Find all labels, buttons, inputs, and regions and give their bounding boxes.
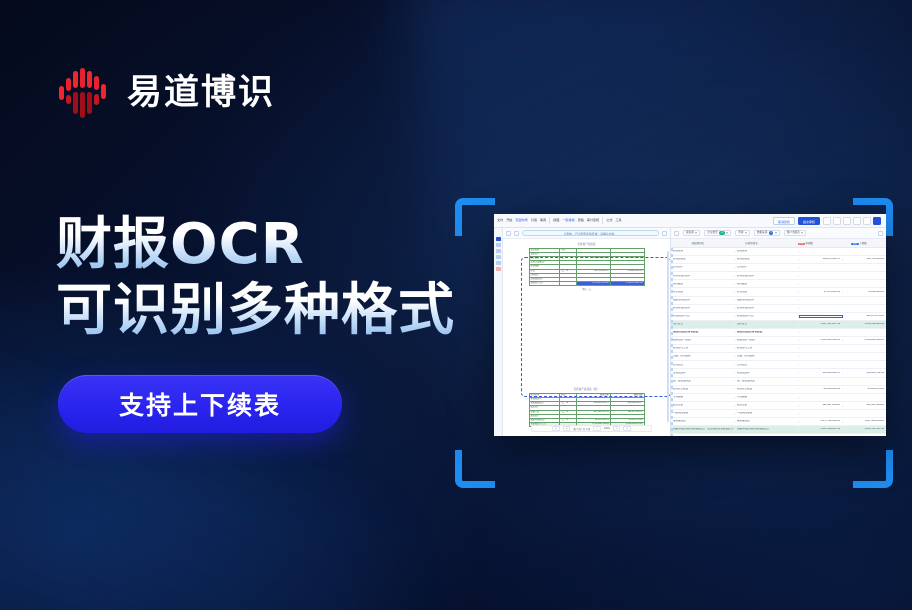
- table-cell[interactable]: 其他综合收益: [735, 388, 799, 391]
- table-row[interactable]: 持有待售的资产持有待售的资产: [671, 272, 886, 280]
- thumbnail-page-1[interactable]: [496, 237, 501, 241]
- table-cell[interactable]: 归属于母公司所有者权益合计: [735, 428, 799, 431]
- table-row[interactable]: 存货项目存货项目27,672,805.4831,282,240.00: [671, 288, 886, 296]
- toolbar-menu-item[interactable]: 公式: [606, 219, 612, 222]
- cta-button[interactable]: 支持上下续表: [58, 375, 342, 433]
- table-row[interactable]: 盈余公积盈余公积228,327,838.88228,327,838.88: [671, 402, 886, 410]
- fit-width-icon[interactable]: □: [623, 426, 630, 431]
- toolbar-menu-item[interactable]: 工具: [615, 219, 621, 222]
- undo-icon[interactable]: [823, 217, 831, 225]
- submit-review-button[interactable]: 提交审核: [798, 217, 820, 225]
- table-cell[interactable]: 递延所得税资产: [671, 299, 735, 302]
- filter-bar: 报表期企业类型12币种数据来源3账户余额表: [671, 228, 886, 239]
- table-cell[interactable]: 资产总计: [735, 323, 799, 326]
- table-cell: 流动资产合计: [529, 282, 560, 286]
- table-row[interactable]: 资产总计资产总计1,487,567,067.091,558,598,963.83: [671, 321, 886, 329]
- document-table: 合并资产负债表项目名称附注流动资产：货币资金七、1964,804,941.738…: [509, 242, 664, 291]
- page-indicator: 第 1 页 / 共 2 页: [573, 427, 590, 431]
- document-preview-pane: 识别中，已识别到表格区域，请确认内容… 合并资产负债表项目名称附注流动资产：货币…: [503, 228, 671, 436]
- expand-icon[interactable]: [853, 217, 861, 225]
- settings-icon[interactable]: [873, 217, 881, 225]
- chevron-down-icon: [801, 232, 803, 234]
- thumbnail-page-flagged[interactable]: [496, 267, 501, 271]
- table-row[interactable]: 预付账款预付账款: [671, 280, 886, 288]
- table-row[interactable]: 其他综合收益其他综合收益-20,214,823.40-23,895,870.36: [671, 386, 886, 394]
- table-cell[interactable]: 预付账款: [735, 283, 799, 286]
- table-cell[interactable]: 非流动资产合计: [671, 315, 735, 318]
- table-cell[interactable]: 持有待售的资产: [671, 275, 735, 278]
- column-tag: 必填: [798, 243, 805, 245]
- filter-dropdown[interactable]: 企业类型12: [704, 230, 731, 237]
- table-cell[interactable]: 持有待售的资产: [735, 275, 799, 278]
- table-cell: 1,788,425,982.60: [610, 282, 644, 286]
- table-cell[interactable]: 未分配利润: [671, 420, 735, 423]
- headline-line-1: 财报OCR: [56, 212, 455, 278]
- frame-corner-bottom-left: [455, 450, 495, 488]
- table-cell: [560, 282, 577, 286]
- table-row[interactable]: 营业总成本营业总成本441,302,822.70464,646,782.91: [671, 369, 886, 377]
- table-row[interactable]: 票据、应付账款票据、应付账款: [671, 353, 886, 361]
- table-cell[interactable]: 应收款项: [671, 250, 735, 253]
- toolbar-menu-item[interactable]: 开始: [506, 219, 512, 222]
- table-row[interactable]: 递延所得税资产递延所得税资产: [671, 297, 886, 305]
- thumbnail-page-2[interactable]: [496, 243, 501, 247]
- filter-badge: 3: [769, 231, 773, 235]
- table-cell[interactable]: 短期借款（期初）: [735, 339, 799, 342]
- headline-line-2: 可识别多种格式: [56, 278, 455, 344]
- toolbar-separator: [602, 217, 603, 224]
- prev-page-icon[interactable]: ‹‹: [552, 426, 560, 431]
- table-cell[interactable]: 1,361,707,267.00: [843, 428, 886, 431]
- grid-icon[interactable]: [506, 231, 511, 236]
- table-cell[interactable]: 未分配利润: [735, 420, 799, 423]
- table-cell[interactable]: 其他应收款: [735, 258, 799, 261]
- table-cell: 1,873,562,015.80: [576, 282, 610, 286]
- table-cell[interactable]: 其他应收款: [671, 258, 735, 261]
- table-cell[interactable]: 31,282,240.00: [843, 291, 886, 294]
- table-row: 流动资产合计1,873,562,015.801,788,425,982.60: [529, 282, 644, 286]
- table-cell[interactable]: 合同资产: [671, 266, 735, 269]
- document-table-grid: 项目名称附注期末余额期初余额非流动资产：长期股权投资七、16283,065,18…: [529, 393, 645, 428]
- document-table-grid: 项目名称附注流动资产：货币资金七、1964,804,941.73861,112,…: [529, 248, 645, 287]
- chevron-down-icon: [726, 232, 728, 234]
- sound-bars-circle-logo-icon: [57, 66, 111, 120]
- table-row[interactable]: 应收款项应收款项: [671, 248, 886, 256]
- table-cell[interactable]: 存货项目: [735, 291, 799, 294]
- thumbnail-page-4[interactable]: [496, 255, 501, 259]
- table-cell[interactable]: 递延所得税资产: [735, 299, 799, 302]
- table-cell[interactable]: 228,074,670.85: [843, 315, 886, 318]
- table-cell[interactable]: 存货项目: [671, 291, 735, 294]
- document-tables: 合并资产负债表项目名称附注流动资产：货币资金七、1964,804,941.738…: [509, 242, 664, 432]
- app-window: 文件开始页面布局引用审阅视图一键排版表格审计复核公式工具 取消复核提交审核 识别…: [494, 214, 886, 436]
- zoom-out-icon[interactable]: −: [593, 426, 600, 431]
- filter-label: 数据来源: [757, 230, 767, 237]
- thumbnail-page-5[interactable]: [496, 261, 501, 265]
- filter-dropdown[interactable]: 账户余额表: [784, 230, 806, 237]
- table-row[interactable]: 未分配利润未分配利润1,276,790,092.181,227,986,024.…: [671, 418, 886, 426]
- table-cell[interactable]: 27,672,805.48: [799, 291, 843, 294]
- subheader-cells: 原始项目名标准项目名必填 本期数校验 上期数: [671, 241, 886, 245]
- toolbar-menu-item[interactable]: 视图: [553, 219, 559, 222]
- table-cell[interactable]: 预付账款: [671, 283, 735, 286]
- column-subheader: 校验 上期数: [832, 241, 886, 245]
- table-cell[interactable]: 票据、应付账款: [735, 355, 799, 358]
- page-title: 财报OCR 可识别多种格式: [56, 212, 455, 344]
- table-cell[interactable]: 合同负债: [735, 364, 799, 367]
- table-cell[interactable]: 其他应付工具: [735, 347, 799, 350]
- table-cell[interactable]: 非流动资产合计: [735, 315, 799, 318]
- filter-label: 报表期: [686, 230, 694, 237]
- table-cell[interactable]: 减：税金及附加: [671, 380, 735, 383]
- table-row[interactable]: 其他应收款其他应收款294,676,094.73385,710,240.08: [671, 256, 886, 264]
- table-cell[interactable]: 其他非流动资产: [671, 307, 735, 310]
- redo-icon[interactable]: [833, 217, 841, 225]
- table-cell[interactable]: 盈余公积: [735, 404, 799, 407]
- document-table-title: 合并资产负债表: [509, 242, 664, 246]
- toolbar-menu-item[interactable]: 一键排版: [562, 219, 574, 222]
- filter-label: 账户余额表: [787, 230, 800, 237]
- frame-corner-bottom-right: [853, 450, 893, 488]
- table-row[interactable]: 一般风险准备一般风险准备: [671, 410, 886, 418]
- column-subheader: 标准项目名: [725, 241, 779, 245]
- table-cell[interactable]: 228,327,838.88: [799, 404, 843, 407]
- table-cell[interactable]: -20,214,823.40: [799, 388, 843, 391]
- table-cell[interactable]: 盈余公积: [671, 404, 735, 407]
- table-cell[interactable]: 专项储备: [735, 396, 799, 399]
- table-cell[interactable]: 其他应付工具: [671, 347, 735, 350]
- filter-dropdown[interactable]: 报表期: [683, 230, 700, 237]
- table-cell[interactable]: 其他综合收益: [671, 388, 735, 391]
- table-cell[interactable]: 专项储备: [671, 396, 735, 399]
- grid-row-markers: [671, 248, 673, 436]
- table-cell[interactable]: 合同资产: [735, 266, 799, 269]
- column-tag: 校验: [851, 243, 858, 245]
- table-row[interactable]: 合同负债合同负债: [671, 361, 886, 369]
- table-cell[interactable]: 1,103,861,290.02: [843, 339, 886, 342]
- table-cell[interactable]: 流动负债及所有者权益：: [671, 331, 735, 334]
- table-cell[interactable]: 385,710,240.08: [843, 258, 886, 261]
- table-cell[interactable]: 1,387,509,027.09: [799, 428, 843, 431]
- filter-label: 币种: [738, 230, 743, 237]
- column-subheader: 必填 本期数: [779, 241, 833, 245]
- next-page-icon[interactable]: ››: [563, 426, 571, 431]
- column-subheader-bar: 原始项目名标准项目名必填 本期数校验 上期数: [671, 239, 886, 248]
- close-icon[interactable]: [863, 217, 871, 225]
- table-row[interactable]: 流动负债及所有者权益：流动负债及所有者权益：: [671, 329, 886, 337]
- brand-logo: 易道博识: [57, 66, 275, 120]
- table-cell[interactable]: 1,276,790,092.18: [799, 420, 843, 423]
- table-cell[interactable]: 应收款项: [735, 250, 799, 253]
- document-canvas[interactable]: 合并资产负债表项目名称附注流动资产：货币资金七、1964,804,941.738…: [503, 239, 670, 436]
- extracted-data-pane: 报表期企业类型12币种数据来源3账户余额表 原始项目名标准项目名必填 本期数校验…: [671, 228, 886, 436]
- table-row[interactable]: 短期借款（期初）短期借款（期初）1,145,841,098.461,103,86…: [671, 337, 886, 345]
- data-grid[interactable]: 应收款项应收款项其他应收款其他应收款294,676,094.73385,710,…: [671, 248, 886, 436]
- table-row[interactable]: 非流动资产合计非流动资产合计372,997,600.60228,074,670.…: [671, 313, 886, 321]
- toolbar-actions: 取消复核提交审核: [773, 217, 883, 225]
- grid-rows: 应收款项应收款项其他应收款其他应收款294,676,094.73385,710,…: [671, 248, 886, 434]
- zoom-level: 100%: [604, 427, 610, 430]
- table-cell[interactable]: 372,997,600.60: [799, 315, 843, 318]
- table-cell[interactable]: 资产总计: [671, 323, 735, 326]
- refresh-icon[interactable]: [843, 217, 851, 225]
- toolbar-menu-item[interactable]: 审阅: [540, 219, 546, 222]
- table-cell[interactable]: 228,327,838.88: [843, 404, 886, 407]
- table-cell[interactable]: 一般风险准备: [735, 412, 799, 415]
- toolbar-menu-item[interactable]: 表格: [578, 219, 584, 222]
- table-cell[interactable]: 短期借款（期初）: [671, 339, 735, 342]
- app-toolbar: 文件开始页面布局引用审阅视图一键排版表格审计复核公式工具 取消复核提交审核: [494, 214, 886, 228]
- page-thumbnail-rail[interactable]: [494, 228, 503, 436]
- table-cell[interactable]: 归属于母公司所有者权益合计（负债和所有者权益总计）: [671, 428, 735, 431]
- toolbar-menu-item[interactable]: 审计复核: [587, 219, 599, 222]
- document-footer-controls[interactable]: ‹‹ ›› 第 1 页 / 共 2 页 − 100% + □: [531, 425, 652, 432]
- table-cell[interactable]: 1,145,841,098.46: [799, 339, 843, 342]
- toolbar-menu-item[interactable]: 文件: [497, 219, 503, 222]
- table-cell[interactable]: 1,227,986,024.85: [843, 420, 886, 423]
- toolbar-menu-item[interactable]: 页面布局: [515, 219, 527, 222]
- chevron-down-icon: [695, 232, 697, 234]
- table-cell[interactable]: 1,487,567,067.09: [799, 323, 843, 326]
- table-cell[interactable]: 营业总成本: [671, 372, 735, 375]
- table-row[interactable]: 减：税金及附加减：税金及附加: [671, 378, 886, 386]
- table-row[interactable]: 合同资产合同资产: [671, 264, 886, 272]
- toolbar-separator: [549, 217, 550, 224]
- table-cell[interactable]: 流动负债及所有者权益：: [735, 331, 799, 334]
- table-cell[interactable]: 441,302,822.70: [799, 372, 843, 375]
- search-icon[interactable]: [878, 231, 883, 236]
- table-cell[interactable]: 其他非流动资产: [735, 307, 799, 310]
- table-cell[interactable]: 294,676,094.73: [799, 258, 843, 261]
- filter-badge: 12: [719, 231, 725, 235]
- filter-controls: 报表期企业类型12币种数据来源3账户余额表: [683, 230, 806, 237]
- chevron-down-icon: [745, 232, 747, 234]
- toolbar-menu-item[interactable]: 引用: [531, 219, 537, 222]
- document-status-pill: 识别中，已识别到表格区域，请确认内容…: [522, 230, 659, 237]
- filter-dropdown[interactable]: 数据来源3: [754, 230, 780, 237]
- filter-label: 企业类型: [707, 230, 717, 237]
- column-subheader: 原始项目名: [671, 241, 725, 245]
- table-row[interactable]: 专项储备专项储备: [671, 394, 886, 402]
- table-row[interactable]: 其他应付工具其他应付工具: [671, 345, 886, 353]
- toolbar-menu[interactable]: 文件开始页面布局引用审阅视图一键排版表格审计复核公式工具: [497, 217, 622, 224]
- table-cell[interactable]: -23,895,870.36: [843, 388, 886, 391]
- zoom-icon[interactable]: [662, 231, 667, 236]
- cancel-review-button[interactable]: 取消复核: [773, 217, 795, 225]
- upload-icon[interactable]: [514, 231, 519, 236]
- table-row[interactable]: 归属于母公司所有者权益合计（负债和所有者权益总计）归属于母公司所有者权益合计1,…: [671, 426, 886, 434]
- filter-dropdown[interactable]: 币种: [735, 230, 750, 237]
- app-body: 识别中，已识别到表格区域，请确认内容… 合并资产负债表项目名称附注流动资产：货币…: [494, 228, 886, 436]
- table-cell[interactable]: 营业总成本: [735, 372, 799, 375]
- thumbnail-page-3[interactable]: [496, 249, 501, 253]
- frame-corner-top-left: [455, 198, 495, 236]
- table-cell[interactable]: 减：税金及附加: [735, 380, 799, 383]
- table-cell[interactable]: 1,558,598,963.83: [843, 323, 886, 326]
- document-table-caption: 单位：元: [509, 287, 664, 291]
- table-cell[interactable]: 464,646,782.91: [843, 372, 886, 375]
- toolbar-icon-buttons: [823, 217, 881, 225]
- document-toolbar: 识别中，已识别到表格区域，请确认内容…: [503, 228, 670, 239]
- table-cell[interactable]: 合同负债: [671, 364, 735, 367]
- chevron-down-icon: [775, 232, 777, 234]
- brand-name: 易道博识: [127, 76, 275, 111]
- table-cell[interactable]: 票据、应付账款: [671, 355, 735, 358]
- document-table-title: 合并资产负债表（续）: [509, 387, 664, 391]
- zoom-in-icon[interactable]: +: [613, 426, 620, 431]
- table-row[interactable]: 其他非流动资产其他非流动资产: [671, 305, 886, 313]
- toolbar-buttons: 取消复核提交审核: [773, 217, 820, 225]
- table-cell[interactable]: 一般风险准备: [671, 412, 735, 415]
- filter-icon[interactable]: [674, 231, 679, 236]
- document-scrollbar[interactable]: [667, 251, 669, 422]
